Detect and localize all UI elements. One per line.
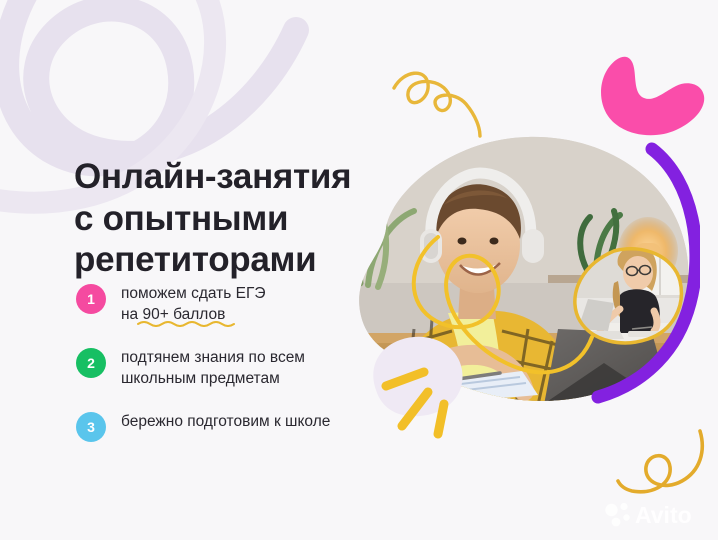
avito-watermark: Avito: [602, 498, 706, 530]
promo-banner: Онлайн-занятия с опытными репетиторами 1…: [0, 0, 718, 540]
bullet-2-line-2: школьным предметам: [121, 369, 305, 390]
headline-line-2: с опытными: [74, 198, 374, 239]
headline-line-3: репетиторами: [74, 239, 374, 280]
bullet-badge-1: 1: [76, 284, 106, 314]
list-item: 3 бережно подготовим к школе: [76, 411, 406, 442]
pink-crescent-blob-icon: [588, 52, 712, 140]
bullet-1-line-1: поможем сдать ЕГЭ: [121, 284, 266, 305]
avito-dots-logo-icon: [605, 503, 629, 527]
avito-wordmark: Avito: [635, 502, 692, 528]
wavy-yellow-underline-icon: [137, 319, 235, 327]
headline-line-1: Онлайн-занятия: [74, 156, 374, 197]
bullet-3-line-1: бережно подготовим к школе: [121, 412, 330, 433]
bullet-badge-3: 3: [76, 412, 106, 442]
page-title: Онлайн-занятия с опытными репетиторами: [74, 156, 374, 280]
bullet-2-line-1: подтянем знания по всем: [121, 348, 305, 369]
bullet-text-2: подтянем знания по всем школьным предмет…: [121, 347, 305, 389]
bullet-text-1: поможем сдать ЕГЭ на 90+ баллов: [121, 283, 266, 325]
yellow-squiggle-bottom-icon: [616, 425, 716, 505]
yellow-squiggle-top-icon: [392, 62, 492, 140]
hero-photo: [352, 133, 700, 405]
bullet-text-3: бережно подготовим к школе: [121, 411, 330, 433]
bullet-badge-2: 2: [76, 348, 106, 378]
